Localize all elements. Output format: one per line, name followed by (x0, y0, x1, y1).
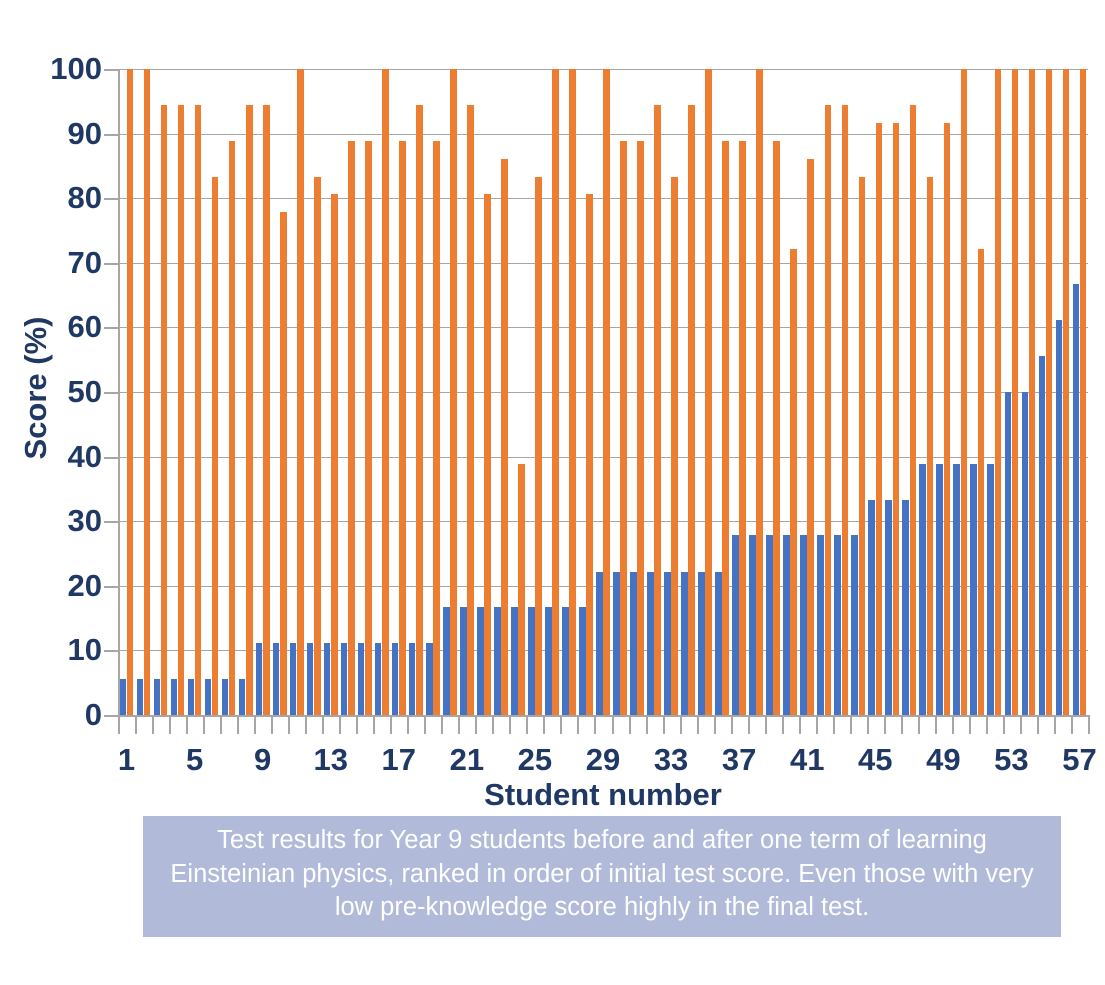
bar-post-student-42 (825, 105, 832, 715)
x-tick-mark (1037, 717, 1039, 734)
bar-post-student-2 (144, 69, 151, 715)
bar-group (867, 69, 884, 715)
bar-group (1003, 69, 1020, 715)
x-tick-mark (594, 717, 596, 734)
bar-group (509, 69, 526, 715)
bar-post-student-22 (484, 194, 491, 715)
x-tick-label-57: 57 (1049, 744, 1105, 775)
y-tick-mark-40 (104, 457, 118, 459)
y-tick-mark-50 (104, 392, 118, 394)
y-tick-label-30: 30 (30, 505, 102, 536)
bar-post-student-30 (620, 141, 627, 715)
bar-post-student-5 (195, 105, 202, 715)
y-tick-label-10: 10 (30, 634, 102, 665)
bar-post-student-38 (756, 69, 763, 715)
bar-group (560, 69, 577, 715)
bar-post-student-44 (859, 177, 866, 715)
bar-post-student-15 (365, 141, 372, 715)
bar-pre-student-14 (341, 643, 348, 715)
bar-group (612, 69, 629, 715)
x-tick-label-17: 17 (369, 744, 429, 775)
x-tick-mark (526, 717, 528, 734)
x-tick-mark (901, 717, 903, 734)
bar-post-student-16 (382, 69, 389, 715)
bar-post-student-32 (654, 105, 661, 715)
bar-group (629, 69, 646, 715)
x-tick-mark (322, 717, 324, 734)
x-axis-tick-marks (118, 717, 1088, 737)
x-tick-mark (288, 717, 290, 734)
x-tick-mark (646, 717, 648, 734)
y-tick-mark-70 (104, 263, 118, 265)
bar-pre-student-56 (1056, 320, 1063, 715)
bar-post-student-56 (1063, 69, 1070, 715)
bar-pre-student-3 (154, 679, 161, 715)
bar-group (765, 69, 782, 715)
bar-pre-student-5 (188, 679, 195, 715)
bar-group (305, 69, 322, 715)
bar-pre-student-27 (562, 607, 569, 715)
bar-group (799, 69, 816, 715)
x-tick-mark (220, 717, 222, 734)
bar-pre-student-35 (698, 572, 705, 715)
bar-pre-student-40 (783, 535, 790, 715)
bar-pre-student-51 (970, 464, 977, 715)
bar-group (458, 69, 475, 715)
bar-pre-student-52 (987, 464, 994, 715)
bar-pre-student-13 (324, 643, 331, 715)
bar-post-student-57 (1080, 69, 1087, 715)
bar-pre-student-10 (273, 643, 280, 715)
bar-post-student-41 (807, 159, 814, 715)
bar-post-student-21 (467, 105, 474, 715)
bar-pre-student-50 (953, 464, 960, 715)
x-tick-mark (697, 717, 699, 734)
x-tick-mark (118, 717, 120, 734)
x-tick-mark (1071, 717, 1073, 734)
x-tick-label-29: 29 (573, 744, 633, 775)
bar-post-student-54 (1029, 69, 1036, 715)
x-tick-label-9: 9 (233, 744, 293, 775)
y-tick-mark-90 (104, 134, 118, 136)
bar-group (594, 69, 611, 715)
x-axis-title: Student number (118, 777, 1088, 813)
bar-pre-student-25 (528, 607, 535, 715)
bar-post-student-24 (518, 464, 525, 715)
bar-group (884, 69, 901, 715)
bar-group (731, 69, 748, 715)
y-tick-label-60: 60 (30, 311, 102, 342)
x-tick-mark (1020, 717, 1022, 734)
bar-pre-student-36 (715, 572, 722, 715)
bar-pre-student-9 (256, 643, 263, 715)
bar-group (833, 69, 850, 715)
x-tick-mark (833, 717, 835, 734)
bar-post-student-26 (552, 69, 559, 715)
bar-post-student-47 (910, 105, 917, 715)
bar-pre-student-28 (579, 607, 586, 715)
bar-post-student-55 (1046, 69, 1053, 715)
bar-group (322, 69, 339, 715)
x-tick-label-25: 25 (505, 744, 565, 775)
bar-post-student-4 (178, 105, 185, 715)
y-tick-mark-100 (104, 69, 118, 71)
bar-pre-student-6 (205, 679, 212, 715)
bar-group (288, 69, 305, 715)
y-tick-mark-20 (104, 586, 118, 588)
y-tick-mark-10 (104, 650, 118, 652)
bar-group (901, 69, 918, 715)
bar-post-student-35 (705, 69, 712, 715)
y-tick-label-100: 100 (30, 53, 102, 84)
bar-pre-student-34 (681, 572, 688, 715)
bar-group (441, 69, 458, 715)
bar-group (237, 69, 254, 715)
bar-pre-student-55 (1039, 356, 1046, 715)
bar-post-student-18 (416, 105, 423, 715)
bar-pre-student-53 (1005, 392, 1012, 715)
bar-group (424, 69, 441, 715)
bar-pre-student-21 (460, 607, 467, 715)
bar-group (782, 69, 799, 715)
bar-group (356, 69, 373, 715)
bar-group (816, 69, 833, 715)
bar-post-student-23 (501, 159, 508, 715)
y-tick-label-70: 70 (30, 247, 102, 278)
y-tick-label-40: 40 (30, 441, 102, 472)
x-tick-mark (731, 717, 733, 734)
y-tick-mark-0 (104, 715, 118, 717)
plot-area (118, 69, 1088, 715)
bar-post-student-46 (893, 123, 900, 715)
bar-group (373, 69, 390, 715)
x-tick-label-21: 21 (437, 744, 497, 775)
bar-group (969, 69, 986, 715)
bar-post-student-6 (212, 177, 219, 715)
bar-pre-student-30 (613, 572, 620, 715)
x-tick-mark (577, 717, 579, 734)
bar-post-student-52 (995, 69, 1002, 715)
x-tick-mark (986, 717, 988, 734)
bar-post-student-31 (637, 141, 644, 715)
x-tick-mark (169, 717, 171, 734)
x-tick-mark (492, 717, 494, 734)
x-tick-mark (135, 717, 137, 734)
bar-pre-student-17 (392, 643, 399, 715)
x-tick-mark (1088, 717, 1090, 734)
x-tick-mark (612, 717, 614, 734)
x-tick-mark (969, 717, 971, 734)
x-tick-mark (254, 717, 256, 734)
bar-group (1071, 69, 1088, 715)
bar-group (152, 69, 169, 715)
y-tick-label-20: 20 (30, 570, 102, 601)
bar-pre-student-54 (1022, 392, 1029, 715)
bar-pre-student-16 (375, 643, 382, 715)
bar-pre-student-46 (885, 500, 892, 715)
bar-post-student-51 (978, 249, 985, 715)
bar-pre-student-2 (137, 679, 144, 715)
y-axis-tick-labels: 0102030405060708090100 (30, 0, 102, 985)
bar-pre-student-8 (239, 679, 246, 715)
bar-pre-student-39 (766, 535, 773, 715)
bar-pre-student-4 (171, 679, 178, 715)
x-tick-mark (1003, 717, 1005, 734)
bar-post-student-8 (246, 105, 253, 715)
x-tick-mark (918, 717, 920, 734)
x-tick-mark (867, 717, 869, 734)
bar-group (390, 69, 407, 715)
x-tick-mark (441, 717, 443, 734)
bar-post-student-17 (399, 141, 406, 715)
x-tick-mark (748, 717, 750, 734)
x-tick-label-5: 5 (165, 744, 225, 775)
x-tick-mark (356, 717, 358, 734)
bar-post-student-45 (876, 123, 883, 715)
bar-post-student-13 (331, 194, 338, 715)
bar-pre-student-22 (477, 607, 484, 715)
bar-group (526, 69, 543, 715)
x-tick-label-41: 41 (777, 744, 837, 775)
x-tick-label-49: 49 (913, 744, 973, 775)
bar-pre-student-1 (120, 679, 127, 715)
bar-pre-student-20 (443, 607, 450, 715)
bar-pre-student-48 (919, 464, 926, 715)
bar-group (169, 69, 186, 715)
x-tick-label-45: 45 (845, 744, 905, 775)
bar-post-student-11 (297, 69, 304, 715)
bar-group (748, 69, 765, 715)
bar-post-student-43 (842, 105, 849, 715)
bar-group (543, 69, 560, 715)
bar-post-student-1 (127, 69, 134, 715)
bar-pre-student-37 (732, 535, 739, 715)
bar-post-student-37 (739, 141, 746, 715)
bar-group (697, 69, 714, 715)
bar-pre-student-45 (868, 500, 875, 715)
x-tick-mark (850, 717, 852, 734)
bar-group (135, 69, 152, 715)
x-tick-mark (407, 717, 409, 734)
bar-post-student-7 (229, 141, 236, 715)
bar-group (407, 69, 424, 715)
bar-group (1054, 69, 1071, 715)
x-tick-mark (203, 717, 205, 734)
bar-group (952, 69, 969, 715)
bar-post-student-33 (671, 177, 678, 715)
chart-figure: Score (%) 0102030405060708090100 1591317… (0, 0, 1105, 985)
y-tick-label-90: 90 (30, 118, 102, 149)
y-tick-mark-60 (104, 327, 118, 329)
bar-group (680, 69, 697, 715)
y-tick-mark-80 (104, 198, 118, 200)
bar-pre-student-12 (307, 643, 314, 715)
bar-post-student-19 (433, 141, 440, 715)
x-tick-mark (237, 717, 239, 734)
x-tick-mark (765, 717, 767, 734)
bar-post-student-9 (263, 105, 270, 715)
bar-series-container (118, 69, 1088, 715)
bar-pre-student-43 (834, 535, 841, 715)
bar-pre-student-41 (800, 535, 807, 715)
x-tick-mark (390, 717, 392, 734)
bar-post-student-14 (348, 141, 355, 715)
bar-group (714, 69, 731, 715)
bar-group (186, 69, 203, 715)
bar-group (850, 69, 867, 715)
bar-pre-student-15 (358, 643, 365, 715)
bar-group (918, 69, 935, 715)
bar-pre-student-47 (902, 500, 909, 715)
bar-post-student-49 (944, 123, 951, 715)
x-tick-mark (714, 717, 716, 734)
bar-post-student-25 (535, 177, 542, 715)
bar-pre-student-7 (222, 679, 229, 715)
x-tick-mark (339, 717, 341, 734)
bar-post-student-27 (569, 69, 576, 715)
bar-pre-student-29 (596, 572, 603, 715)
bar-post-student-36 (722, 141, 729, 715)
bar-pre-student-18 (409, 643, 416, 715)
bar-post-student-50 (961, 69, 968, 715)
x-tick-mark (424, 717, 426, 734)
bar-group (203, 69, 220, 715)
bar-group (254, 69, 271, 715)
bar-group (339, 69, 356, 715)
x-tick-mark (271, 717, 273, 734)
bar-pre-student-38 (749, 535, 756, 715)
bar-post-student-10 (280, 212, 287, 715)
x-tick-mark (543, 717, 545, 734)
bar-pre-student-57 (1073, 284, 1080, 715)
bar-post-student-28 (586, 194, 593, 715)
bar-pre-student-42 (817, 535, 824, 715)
bar-post-student-48 (927, 177, 934, 715)
bar-group (220, 69, 237, 715)
x-tick-mark (799, 717, 801, 734)
bar-pre-student-19 (426, 643, 433, 715)
bar-group (935, 69, 952, 715)
x-tick-mark (884, 717, 886, 734)
bar-post-student-53 (1012, 69, 1019, 715)
bar-group (1037, 69, 1054, 715)
x-tick-mark (952, 717, 954, 734)
bar-pre-student-49 (936, 464, 943, 715)
bar-post-student-29 (603, 69, 610, 715)
x-tick-mark (509, 717, 511, 734)
bar-post-student-20 (450, 69, 457, 715)
bar-post-student-39 (773, 141, 780, 715)
x-tick-mark (152, 717, 154, 734)
bar-group (1020, 69, 1037, 715)
bar-group (986, 69, 1003, 715)
x-tick-mark (475, 717, 477, 734)
x-tick-label-1: 1 (97, 744, 157, 775)
bar-pre-student-11 (290, 643, 297, 715)
x-tick-label-33: 33 (641, 744, 701, 775)
bar-group (492, 69, 509, 715)
x-tick-mark (560, 717, 562, 734)
bar-post-student-12 (314, 177, 321, 715)
gridline-0 (118, 715, 1088, 716)
bar-pre-student-26 (545, 607, 552, 715)
x-tick-label-53: 53 (981, 744, 1041, 775)
bar-group (271, 69, 288, 715)
bar-post-student-40 (790, 249, 797, 715)
y-tick-label-0: 0 (30, 699, 102, 730)
x-tick-mark (373, 717, 375, 734)
bar-pre-student-23 (494, 607, 501, 715)
bar-pre-student-32 (647, 572, 654, 715)
x-tick-mark (935, 717, 937, 734)
bar-pre-student-31 (630, 572, 637, 715)
x-tick-mark (305, 717, 307, 734)
x-tick-mark (458, 717, 460, 734)
bar-pre-student-33 (664, 572, 671, 715)
bar-group (118, 69, 135, 715)
x-tick-mark (1054, 717, 1056, 734)
bar-group (475, 69, 492, 715)
y-tick-label-50: 50 (30, 376, 102, 407)
bar-pre-student-44 (851, 535, 858, 715)
bar-pre-student-24 (511, 607, 518, 715)
x-tick-label-37: 37 (709, 744, 769, 775)
bar-group (577, 69, 594, 715)
y-tick-label-80: 80 (30, 182, 102, 213)
x-tick-mark (782, 717, 784, 734)
x-tick-mark (816, 717, 818, 734)
bar-group (646, 69, 663, 715)
y-tick-mark-30 (104, 521, 118, 523)
bar-group (663, 69, 680, 715)
bar-post-student-34 (688, 105, 695, 715)
x-tick-mark (663, 717, 665, 734)
figure-caption: Test results for Year 9 students before … (143, 816, 1061, 937)
bar-post-student-3 (161, 105, 168, 715)
x-tick-mark (680, 717, 682, 734)
x-tick-mark (186, 717, 188, 734)
x-tick-mark (629, 717, 631, 734)
x-tick-label-13: 13 (301, 744, 361, 775)
